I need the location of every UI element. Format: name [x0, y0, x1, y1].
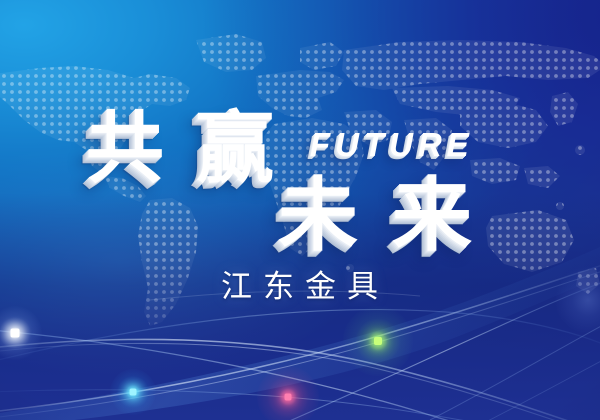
company-name: 江东金具 [0, 272, 600, 303]
company-name-text: 江东金具 [210, 272, 389, 303]
headline-text-layer: 共 赢 FUTURE 未 来 江东金具 [0, 0, 600, 420]
headline-char-ying: 赢 [196, 110, 274, 188]
headline-char-gong: 共 [86, 110, 164, 188]
promotional-banner: 共 赢 FUTURE 未 来 江东金具 [0, 0, 600, 420]
headline-char-lai: 来 [392, 176, 472, 256]
headline-char-wei: 未 [278, 176, 358, 256]
subtitle-future: FUTURE [310, 128, 474, 161]
